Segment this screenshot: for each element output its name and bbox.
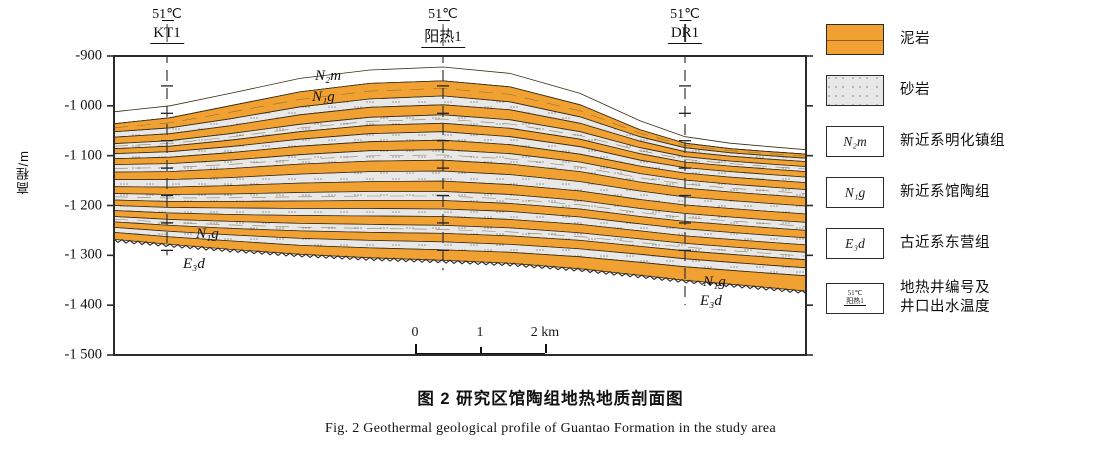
scale-bar: 012 km: [415, 325, 545, 354]
legend-item-0[interactable]: 泥岩: [826, 24, 1091, 55]
legend-item-4[interactable]: E₃d古近系东营组: [826, 228, 1091, 259]
plot-label-4: N₁g: [702, 274, 726, 290]
legend-item-3[interactable]: N₁g新近系馆陶组: [826, 177, 1091, 208]
formation-code-box: N₂m: [826, 126, 884, 157]
scalebar-tick-0: [415, 344, 417, 353]
legend-item-1[interactable]: 砂岩: [826, 75, 1091, 106]
scalebar-label-0: 0: [412, 325, 419, 341]
sandstone-swatch-icon: [826, 75, 884, 106]
legend-label-5: 地热井编号及 井口出水温度: [900, 279, 990, 317]
legend-label-0: 泥岩: [900, 30, 930, 49]
figure-caption: 图 2 研究区馆陶组地热地质剖面图 Fig. 2 Geothermal geol…: [0, 385, 1101, 437]
legend-label-4: 古近系东营组: [900, 234, 990, 253]
swatch-midline: [827, 40, 883, 41]
well-symbol-icon: 51℃阳热1: [826, 283, 884, 314]
plot-label-0: N₂m: [314, 68, 341, 84]
caption-chinese: 图 2 研究区馆陶组地热地质剖面图: [0, 385, 1101, 409]
plot-label-3: E₃d: [182, 256, 205, 272]
scalebar-label-2: 2 km: [531, 325, 559, 341]
plot-label-2: N₁g: [195, 226, 219, 242]
legend-label-3: 新近系馆陶组: [900, 183, 990, 202]
formation-code-box: E₃d: [826, 228, 884, 259]
legend-item-2[interactable]: N₂m新近系明化镇组: [826, 126, 1091, 157]
legend-item-5[interactable]: 51℃阳热1地热井编号及 井口出水温度: [826, 279, 1091, 317]
scalebar-label-1: 1: [477, 325, 484, 341]
formation-code-box: N₁g: [826, 177, 884, 208]
legend-panel: 泥岩砂岩N₂m新近系明化镇组N₁g新近系馆陶组E₃d古近系东营组51℃阳热1地热…: [826, 24, 1091, 337]
geological-profile-figure: 高程/m -900-1 000-1 100-1 200-1 300-1 400-…: [0, 0, 1101, 453]
plot-label-5: E₃d: [699, 293, 722, 309]
well-symbol-name: 阳热1: [844, 298, 866, 306]
scalebar-tick-2: [545, 344, 547, 353]
scalebar-tick-1: [480, 347, 482, 353]
mudstone-swatch-icon: [826, 24, 884, 55]
plot-label-1: N₁g: [311, 89, 335, 105]
caption-english: Fig. 2 Geothermal geological profile of …: [0, 421, 1101, 437]
legend-label-1: 砂岩: [900, 81, 930, 100]
legend-label-2: 新近系明化镇组: [900, 132, 1005, 151]
